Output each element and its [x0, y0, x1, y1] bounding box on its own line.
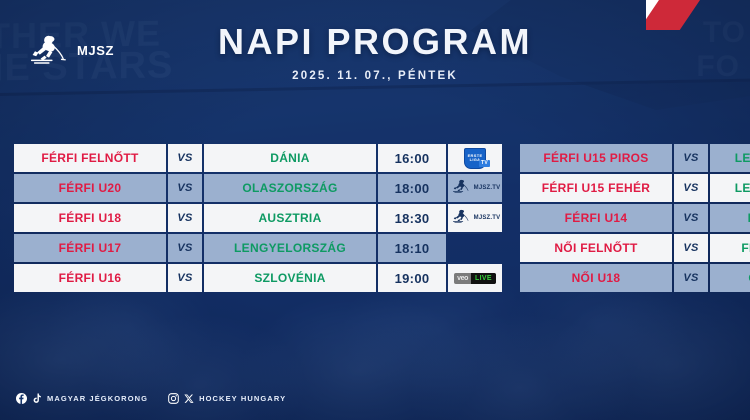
- page-date: 2025. 11. 07., PÉNTEK: [0, 70, 750, 82]
- opponent-name: LENGYELORSZÁG 2: [710, 144, 750, 172]
- broadcast-channel: [448, 234, 502, 262]
- broadcast-channel[interactable]: veoLIVE: [448, 264, 502, 292]
- x-icon[interactable]: [184, 394, 194, 404]
- team-name: NŐI FELNŐTT: [520, 234, 672, 262]
- social-group: MAGYAR JÉGKORONG: [16, 393, 148, 404]
- team-name: FÉRFI U15 PIROS: [520, 144, 672, 172]
- schedule-tables: FÉRFI FELNŐTTVSDÁNIA16:00ERSTELIGATVFÉRF…: [0, 144, 750, 292]
- team-name: FÉRFI U18: [14, 204, 166, 232]
- channel-label: MJSZ.TV: [474, 215, 501, 221]
- vs-label: VS: [674, 204, 708, 232]
- team-name: FÉRFI U14: [520, 204, 672, 232]
- mjsz-tv-icon[interactable]: MJSZ.TV: [448, 204, 502, 232]
- match-time: 18:30: [378, 204, 446, 232]
- broadcast-channel[interactable]: ERSTELIGATV: [448, 144, 502, 172]
- team-name: FÉRFI U20: [14, 174, 166, 202]
- vs-label: VS: [168, 204, 202, 232]
- schedule-table-right: FÉRFI U15 PIROSVSLENGYELORSZÁG 210:45MJS…: [520, 144, 750, 292]
- schedule-row: FÉRFI U15 PIROSVSLENGYELORSZÁG 210:45MJS…: [520, 144, 750, 172]
- team-name: NŐI U18: [520, 264, 672, 292]
- schedule-table-left: FÉRFI FELNŐTTVSDÁNIA16:00ERSTELIGATVFÉRF…: [14, 144, 502, 292]
- vs-label: VS: [168, 144, 202, 172]
- hockey-player-icon: [450, 209, 472, 228]
- schedule-row: FÉRFI U18VSAUSZTRIA18:30MJSZ.TV: [14, 204, 502, 232]
- opponent-name: OLASZORSZÁG: [710, 264, 750, 292]
- opponent-name: OLASZORSZÁG: [204, 174, 376, 202]
- erste-shield-icon: ERSTELIGATV: [464, 148, 486, 169]
- channel-label: TV: [479, 160, 490, 167]
- veo-live-icon[interactable]: veoLIVE: [448, 264, 502, 292]
- napi-program-graphic: THER WE HE STARS TO FO: [0, 0, 750, 420]
- match-time: 19:00: [378, 264, 446, 292]
- opponent-name: SZLOVÉNIA: [204, 264, 376, 292]
- social-handle: HOCKEY HUNGARY: [199, 394, 286, 403]
- schedule-row: NŐI U18VSOLASZORSZÁG18:30MJSZ.TV: [520, 264, 750, 292]
- match-time: 16:00: [378, 144, 446, 172]
- broadcast-channel[interactable]: MJSZ.TV: [448, 174, 502, 202]
- facebook-icon[interactable]: [16, 393, 27, 404]
- vs-label: VS: [674, 174, 708, 202]
- vs-label: VS: [168, 264, 202, 292]
- opponent-name: AUSZTRIA: [204, 204, 376, 232]
- opponent-name: LENGYELORSZÁG 1: [710, 174, 750, 202]
- team-name: FÉRFI FELNŐTT: [14, 144, 166, 172]
- channel-label: MJSZ.TV: [474, 185, 501, 191]
- opponent-name: DÁNIA: [204, 144, 376, 172]
- mjsz-tv-icon[interactable]: MJSZ.TV: [448, 174, 502, 202]
- erste-liga-tv-icon[interactable]: ERSTELIGATV: [448, 144, 502, 172]
- broadcast-channel[interactable]: MJSZ.TV: [448, 204, 502, 232]
- match-time: 18:10: [378, 234, 446, 262]
- opponent-name: LENGYELORSZÁG: [204, 234, 376, 262]
- schedule-row: FÉRFI U17VSLENGYELORSZÁG18:10: [14, 234, 502, 262]
- schedule-row: FÉRFI U14VSBAJORORSZÁG17:20⊢RED+: [520, 204, 750, 232]
- vs-label: VS: [168, 174, 202, 202]
- opponent-name: BAJORORSZÁG: [710, 204, 750, 232]
- schedule-row: FÉRFI U20VSOLASZORSZÁG18:00MJSZ.TV: [14, 174, 502, 202]
- schedule-row: FÉRFI FELNŐTTVSDÁNIA16:00ERSTELIGATV: [14, 144, 502, 172]
- match-time: 18:00: [378, 174, 446, 202]
- vs-label: VS: [674, 234, 708, 262]
- vs-label: VS: [674, 144, 708, 172]
- hockey-player-icon: [450, 179, 472, 198]
- social-footer: MAGYAR JÉGKORONGHOCKEY HUNGARY: [16, 393, 286, 404]
- title-block: NAPI PROGRAM 2025. 11. 07., PÉNTEK: [0, 24, 750, 82]
- tiktok-icon[interactable]: [32, 393, 42, 404]
- instagram-icon[interactable]: [168, 393, 179, 404]
- team-name: FÉRFI U16: [14, 264, 166, 292]
- schedule-row: FÉRFI U15 FEHÉRVSLENGYELORSZÁG 113:30MJS…: [520, 174, 750, 202]
- team-name: FÉRFI U15 FEHÉR: [520, 174, 672, 202]
- vs-label: VS: [168, 234, 202, 262]
- social-group: HOCKEY HUNGARY: [168, 393, 286, 404]
- vs-label: VS: [674, 264, 708, 292]
- schedule-row: NŐI FELNŐTTVSFRANCIAORSZÁG15:00TMAGENTAS…: [520, 234, 750, 262]
- opponent-name: FRANCIAORSZÁG: [710, 234, 750, 262]
- schedule-row: FÉRFI U16VSSZLOVÉNIA19:00veoLIVE: [14, 264, 502, 292]
- header: MJSZ NAPI PROGRAM 2025. 11. 07., PÉNTEK: [0, 0, 750, 100]
- page-title: NAPI PROGRAM: [0, 24, 750, 60]
- team-name: FÉRFI U17: [14, 234, 166, 262]
- social-handle: MAGYAR JÉGKORONG: [47, 394, 148, 403]
